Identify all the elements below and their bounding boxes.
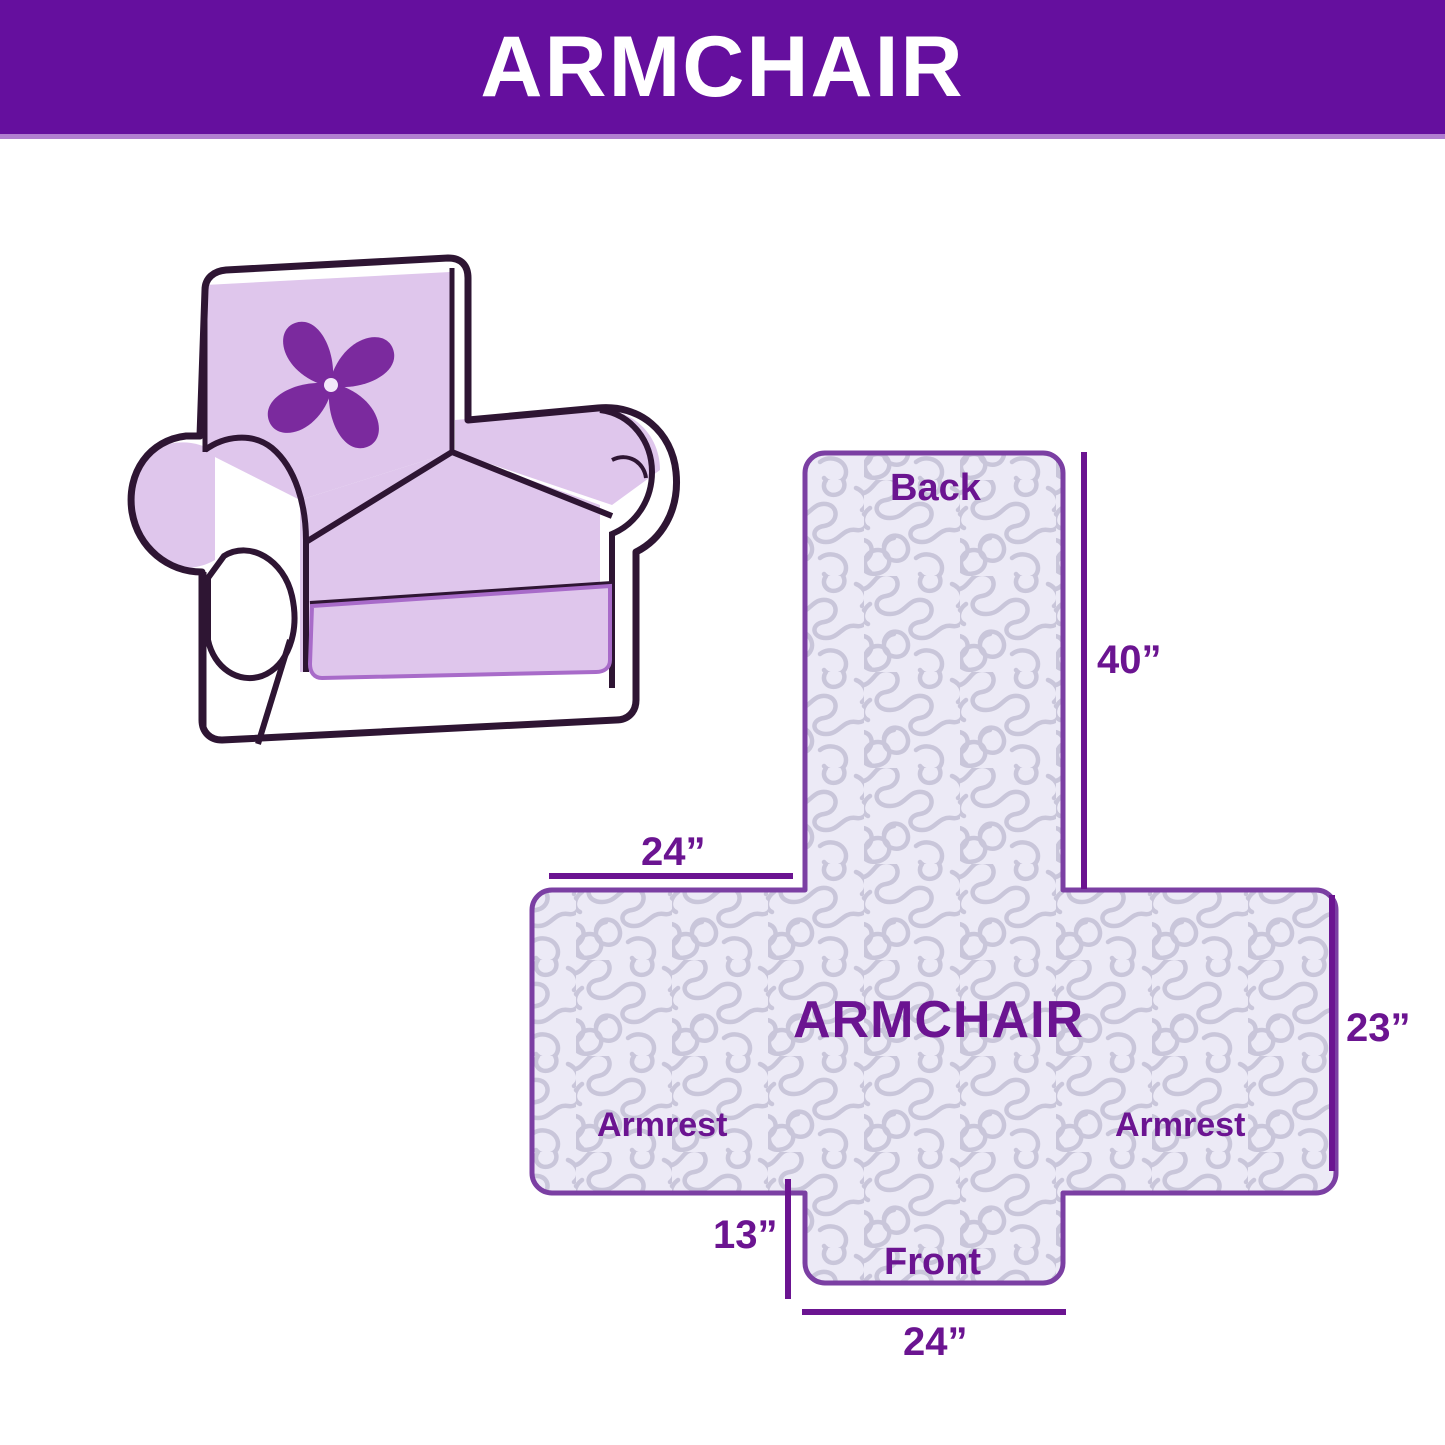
diagram-label-armrest-right: Armrest (1115, 1108, 1245, 1142)
dimension-label-40in: 40” (1097, 640, 1162, 680)
armchair-illustration (131, 258, 676, 744)
dimension-label-24in-bottom: 24” (903, 1322, 968, 1362)
diagram-label-armchair: ARMCHAIR (793, 994, 1084, 1046)
diagram-label-armrest-left: Armrest (597, 1108, 727, 1142)
dimension-label-23in: 23” (1346, 1008, 1411, 1048)
diagram-label-front: Front (884, 1243, 981, 1281)
content-stage: Back ARMCHAIR Armrest Armrest Front 40” … (0, 0, 1445, 1445)
dimension-label-13in: 13” (713, 1215, 778, 1255)
diagram-label-back: Back (890, 469, 981, 507)
dimension-label-24in-top: 24” (641, 832, 706, 872)
